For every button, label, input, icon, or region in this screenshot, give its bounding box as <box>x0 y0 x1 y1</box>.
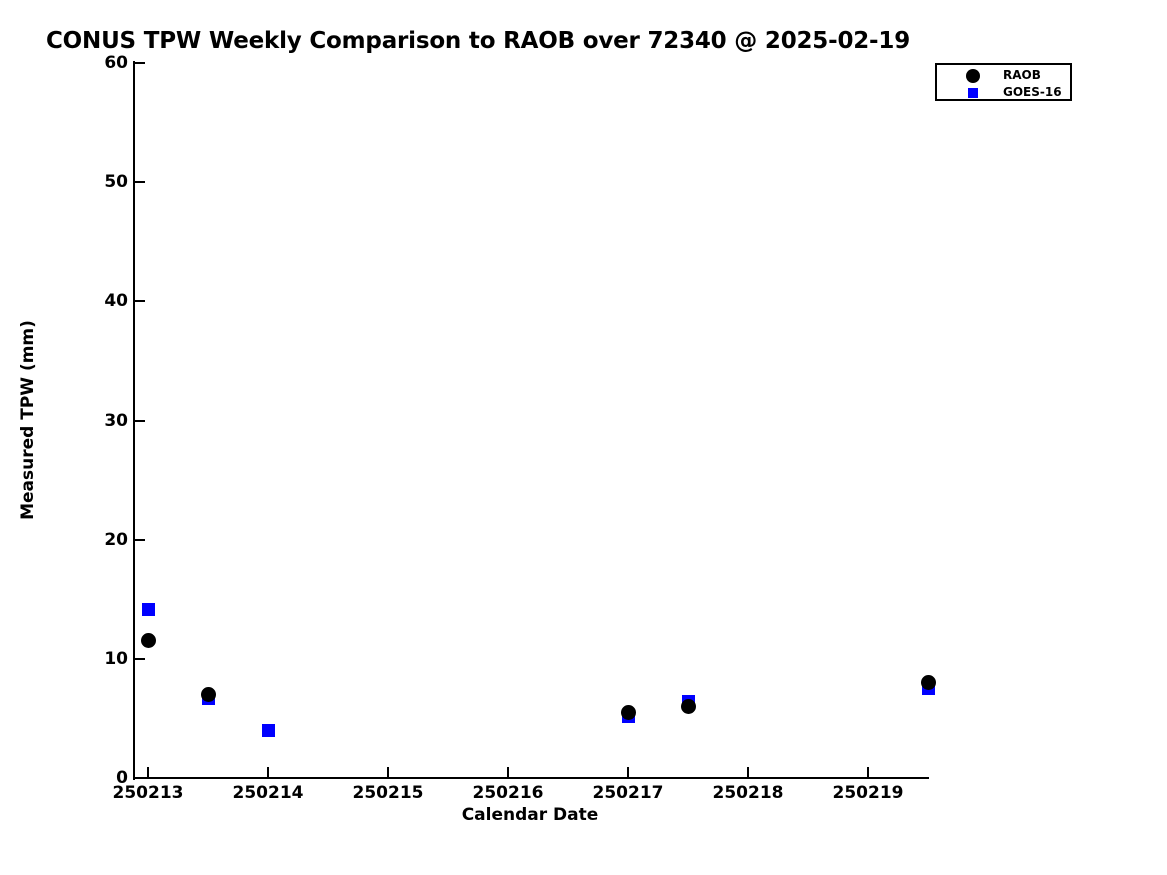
legend-item: RAOB <box>937 67 1074 84</box>
data-point-raob <box>621 705 636 720</box>
data-point-raob <box>921 675 936 690</box>
y-axis-tick-label: 40 <box>104 291 128 311</box>
x-axis-tick-label: 250213 <box>113 783 184 803</box>
y-axis-tick-label: 30 <box>104 411 128 431</box>
x-axis-tick-label: 250218 <box>713 783 784 803</box>
y-axis-tick-label-wrap: 40 <box>60 291 128 311</box>
x-axis-tick-label-wrap: 250219 <box>798 783 938 803</box>
legend-marker-cell <box>961 84 987 101</box>
legend-label: GOES-16 <box>1003 85 1062 99</box>
x-axis-tick-label-wrap: 250218 <box>678 783 818 803</box>
page-title: CONUS TPW Weekly Comparison to RAOB over… <box>46 28 910 54</box>
x-axis-tick-label: 250217 <box>593 783 664 803</box>
legend-label: RAOB <box>1003 68 1041 82</box>
legend: RAOBGOES-16 <box>935 63 1072 101</box>
y-axis-tick-label-wrap: 30 <box>60 411 128 431</box>
chart-root: CONUS TPW Weekly Comparison to RAOB over… <box>0 0 1167 875</box>
y-axis-tick-label: 10 <box>104 649 128 669</box>
y-axis-label: Measured TPW (mm) <box>18 220 38 620</box>
x-axis-tick-label: 250219 <box>833 783 904 803</box>
data-point-raob <box>141 633 156 648</box>
x-axis-tick-label-wrap: 250217 <box>558 783 698 803</box>
square-marker-icon <box>968 88 978 98</box>
x-axis-tick-label: 250216 <box>473 783 544 803</box>
y-axis-tick-label: 60 <box>104 53 128 73</box>
y-axis-tick-label-wrap: 10 <box>60 649 128 669</box>
y-axis-tick-label-wrap: 50 <box>60 172 128 192</box>
legend-marker-cell <box>961 67 987 84</box>
legend-item: GOES-16 <box>937 84 1074 101</box>
x-axis-tick-label-wrap: 250214 <box>198 783 338 803</box>
x-axis-tick-label-wrap: 250216 <box>438 783 578 803</box>
plot-area <box>133 63 928 778</box>
x-axis-tick-label-wrap: 250213 <box>78 783 218 803</box>
data-point-raob <box>681 699 696 714</box>
x-axis-tick-label-wrap: 250215 <box>318 783 458 803</box>
y-axis-tick-label-wrap: 20 <box>60 530 128 550</box>
x-axis-tick-label: 250215 <box>353 783 424 803</box>
data-point-goes-16 <box>142 603 155 616</box>
circle-marker-icon <box>966 69 980 83</box>
data-point-raob <box>201 687 216 702</box>
y-axis-tick-label-wrap: 60 <box>60 53 128 73</box>
data-point-goes-16 <box>262 724 275 737</box>
y-axis-tick-label: 50 <box>104 172 128 192</box>
x-axis-label: Calendar Date <box>0 805 1060 825</box>
x-axis-tick-label: 250214 <box>233 783 304 803</box>
y-axis-tick-label: 20 <box>104 530 128 550</box>
